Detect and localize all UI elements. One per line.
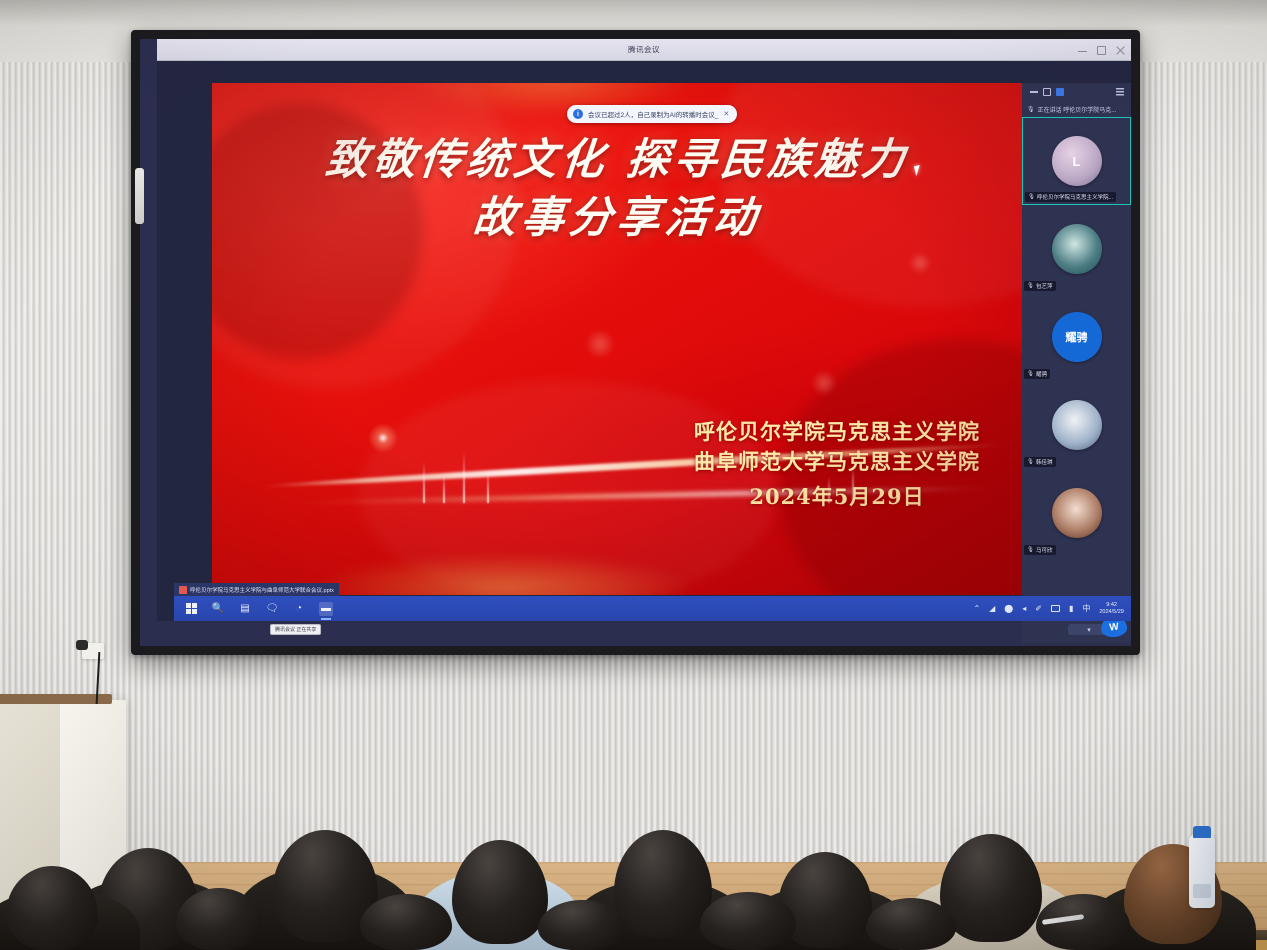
clock-time: 9:42 bbox=[1106, 602, 1117, 608]
participant-name: 马可欣 bbox=[1036, 546, 1053, 554]
taskbar-tooltip: 腾讯会议 正在共享 bbox=[270, 624, 321, 635]
window-title-bar: 腾讯会议 bbox=[157, 39, 1131, 61]
volume-icon[interactable]: ◂ bbox=[1022, 604, 1026, 613]
microphone-icon: 🎙 bbox=[1027, 106, 1035, 113]
toast-message: 会议已超过2人，自己录制为AI的转播时会议_ bbox=[588, 109, 718, 119]
audience-head bbox=[176, 888, 262, 950]
microphone-icon: 🎙 bbox=[1028, 194, 1035, 200]
start-button[interactable] bbox=[184, 602, 198, 616]
toast-close-icon[interactable]: ✕ bbox=[723, 110, 729, 118]
window-controls bbox=[1078, 39, 1125, 61]
participants-sidebar: 🎙 正在讲话 呼伦贝尔学院马克... L 🎙 呼伦贝尔学院马克思主义学院... … bbox=[1022, 83, 1131, 643]
participant-name-badge: 🎙 韩佳琪 bbox=[1024, 457, 1056, 467]
sidebar-window-controls bbox=[1022, 83, 1131, 101]
clock-date: 2024/5/29 bbox=[1099, 609, 1123, 615]
sidebar-menu-icon[interactable] bbox=[1116, 88, 1124, 96]
participant-tile[interactable]: 🎙 包艺萍 bbox=[1022, 205, 1131, 293]
audience-seating bbox=[0, 780, 1267, 950]
participant-name: 韩佳琪 bbox=[1036, 458, 1053, 466]
participant-name: 呼伦贝尔学院马克思主义学院... bbox=[1037, 193, 1113, 201]
meeting-app-chrome: 致敬传统文化 探寻民族魅力 故事分享活动 呼伦贝尔学院马克思主义学院 曲阜师范大… bbox=[157, 61, 1131, 621]
powerpoint-icon bbox=[179, 586, 187, 594]
system-tray: ⌃ ◢ ⬤ ◂ ✐ ▮ 中 9:42 2024/5/29 ▱ bbox=[973, 602, 1131, 616]
display-screen: 腾讯会议 bbox=[140, 39, 1131, 646]
keyboard-icon[interactable] bbox=[1051, 605, 1060, 612]
participant-tile[interactable]: 🎙 韩佳琪 bbox=[1022, 381, 1131, 469]
audience-head bbox=[614, 830, 712, 938]
audience-head bbox=[452, 840, 548, 944]
audience-head bbox=[866, 898, 956, 950]
water-bottle-label bbox=[1193, 884, 1211, 898]
close-icon[interactable] bbox=[1116, 46, 1125, 55]
edge-icon[interactable]: ◔ bbox=[292, 602, 306, 616]
microphone-head bbox=[76, 640, 88, 650]
projection-display-frame: 腾讯会议 bbox=[131, 30, 1140, 655]
active-speaker-label: 正在讲话 呼伦贝尔学院马克... bbox=[1038, 105, 1117, 114]
microphone-icon: 🎙 bbox=[1027, 459, 1034, 465]
battery-icon[interactable]: ▮ bbox=[1069, 604, 1073, 613]
tencent-meeting-icon[interactable]: ▬ bbox=[319, 602, 333, 616]
maximize-icon[interactable] bbox=[1097, 46, 1106, 55]
windows-taskbar: 呼伦贝尔学院马克思主义学院与曲阜师范大学联合会议.pptx 🔍 ▤ 🗨 ◔ ▬ … bbox=[174, 596, 1131, 621]
network-icon[interactable]: ◢ bbox=[989, 604, 995, 613]
active-speaker-banner: 🎙 正在讲话 呼伦贝尔学院马克... bbox=[1022, 101, 1131, 117]
avatar: 耀骋 bbox=[1052, 312, 1102, 362]
ceiling-shadow bbox=[0, 0, 1267, 26]
sidebar-minimize-icon[interactable] bbox=[1030, 91, 1038, 93]
taskbar-clock[interactable]: 9:42 2024/5/29 bbox=[1099, 602, 1123, 616]
audience-head bbox=[700, 892, 796, 950]
show-hidden-icons[interactable]: ⌃ bbox=[973, 604, 980, 613]
input-method-icon[interactable]: 中 bbox=[1082, 603, 1090, 614]
participant-tile[interactable]: L 🎙 呼伦贝尔学院马克思主义学院... bbox=[1022, 117, 1131, 205]
minimize-icon[interactable] bbox=[1078, 46, 1087, 55]
search-icon[interactable]: 🔍 bbox=[211, 602, 225, 616]
avatar bbox=[1052, 488, 1102, 538]
taskbar-icon-group: 🔍 ▤ 🗨 ◔ ▬ bbox=[174, 602, 333, 616]
audience-head bbox=[538, 900, 626, 950]
meeting-notification-toast[interactable]: i 会议已超过2人，自己录制为AI的转播时会议_ ✕ bbox=[567, 105, 737, 123]
participant-name-badge: 🎙 包艺萍 bbox=[1024, 281, 1056, 291]
participant-name-badge: 🎙 呼伦贝尔学院马克思主义学院... bbox=[1025, 192, 1116, 202]
microphone-icon: 🎙 bbox=[1027, 371, 1034, 377]
info-icon: i bbox=[573, 109, 583, 119]
teams-icon[interactable]: 🗨 bbox=[265, 602, 279, 616]
avatar: L bbox=[1052, 136, 1102, 186]
running-app-title: 呼伦贝尔学院马克思主义学院与曲阜师范大学联合会议.pptx bbox=[190, 586, 334, 594]
participant-name-badge: 🎙 耀骋 bbox=[1024, 369, 1050, 379]
task-view-icon[interactable]: ▤ bbox=[238, 602, 252, 616]
sidebar-layout-icon[interactable] bbox=[1056, 88, 1064, 96]
microphone-icon: 🎙 bbox=[1027, 283, 1034, 289]
participant-name-badge: 🎙 马可欣 bbox=[1024, 545, 1056, 555]
display-bezel-sensor bbox=[135, 168, 144, 224]
avatar bbox=[1052, 400, 1102, 450]
participant-name: 包艺萍 bbox=[1036, 282, 1053, 290]
participant-name: 耀骋 bbox=[1036, 370, 1047, 378]
sidebar-maximize-icon[interactable] bbox=[1043, 88, 1051, 96]
windows-logo-icon bbox=[186, 603, 197, 614]
avatar bbox=[1052, 224, 1102, 274]
shared-presentation-slide: 致敬传统文化 探寻民族魅力 故事分享活动 呼伦贝尔学院马克思主义学院 曲阜师范大… bbox=[212, 83, 1022, 595]
participant-tile[interactable]: 🎙 马可欣 bbox=[1022, 469, 1131, 557]
water-bottle-cap bbox=[1193, 826, 1211, 838]
slide-vignette bbox=[212, 83, 1022, 595]
audience-head bbox=[6, 866, 98, 950]
microphone-icon: 🎙 bbox=[1027, 547, 1034, 553]
window-title: 腾讯会议 bbox=[628, 44, 660, 55]
microphone-icon[interactable]: ⬤ bbox=[1004, 604, 1013, 613]
pen-icon[interactable]: ✐ bbox=[1035, 604, 1042, 613]
running-app-strip[interactable]: 呼伦贝尔学院马克思主义学院与曲阜师范大学联合会议.pptx bbox=[174, 583, 339, 596]
audience-head bbox=[360, 894, 452, 950]
participant-tile[interactable]: 耀骋 🎙 耀骋 bbox=[1022, 293, 1131, 381]
